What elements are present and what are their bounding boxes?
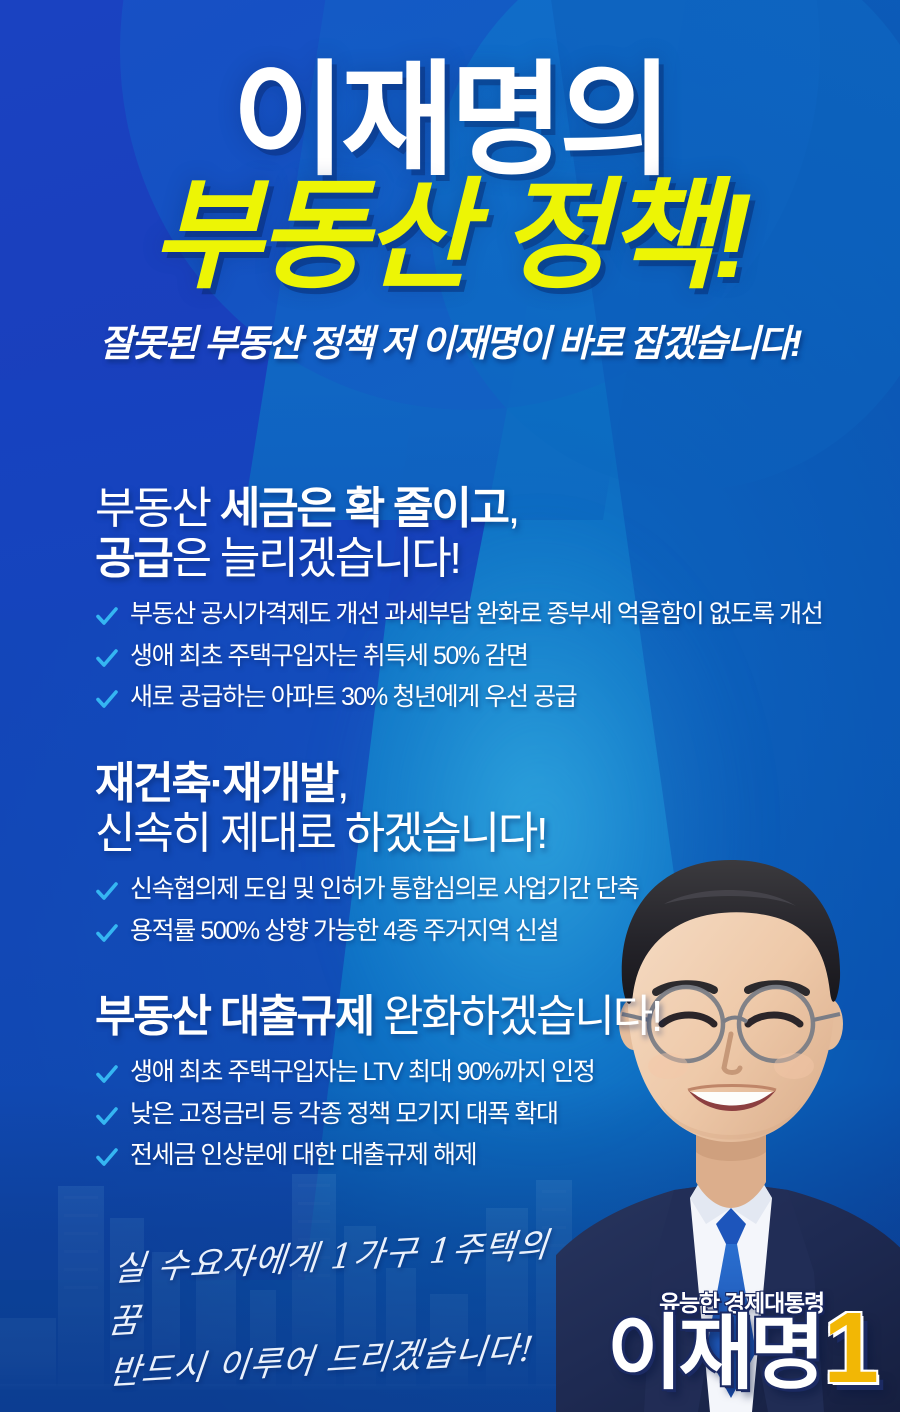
policy-sections: 부동산 세금은 확 줄이고, 공급은 늘리겠습니다! 부동산 공시가격제도 개선…	[95, 484, 835, 1205]
check-icon	[95, 921, 119, 945]
bullet-text: 생애 최초 주택구입자는 취득세 50% 감면	[130, 641, 528, 672]
heading-tail-1: 완화하겠습니다!	[373, 992, 661, 1041]
policy-section-tax-supply: 부동산 세금은 확 줄이고, 공급은 늘리겠습니다! 부동산 공시가격제도 개선…	[95, 484, 835, 713]
candidate-signature-block: 유능한 경제대통령 이재명 1	[607, 1284, 876, 1394]
check-icon	[95, 1145, 119, 1169]
section-heading: 부동산 세금은 확 줄이고, 공급은 늘리겠습니다!	[95, 484, 835, 584]
title-main: 이재명의	[0, 62, 900, 181]
handwritten-slogan: 실 수요자에게 1가구 1주택의 꿈 반드시 이루어 드리겠습니다!	[100, 1218, 585, 1400]
section-heading: 재건축·재개발, 신속히 제대로 하겠습니다!	[95, 759, 835, 859]
list-item: 새로 공급하는 아파트 30% 청년에게 우선 공급	[95, 682, 835, 713]
policy-section-redevelopment: 재건축·재개발, 신속히 제대로 하겠습니다! 신속협의제 도입 및 인허가 통…	[95, 759, 835, 946]
list-item: 생애 최초 주택구입자는 취득세 50% 감면	[95, 641, 835, 672]
bullet-list: 생애 최초 주택구입자는 LTV 최대 90%까지 인정 낮은 고정금리 등 각…	[95, 1057, 835, 1171]
list-item: 용적률 500% 상향 가능한 4종 주거지역 신설	[95, 916, 835, 947]
bullet-text: 새로 공급하는 아파트 30% 청년에게 우선 공급	[130, 682, 576, 713]
policy-section-loan-regulation: 부동산 대출규제 완화하겠습니다! 생애 최초 주택구입자는 LTV 최대 90…	[95, 992, 835, 1171]
bullet-text: 생애 최초 주택구입자는 LTV 최대 90%까지 인정	[130, 1057, 595, 1088]
heading-bold-1: 재건축·재개발	[95, 759, 337, 808]
heading-tail-1: ,	[337, 759, 347, 808]
list-item: 전세금 인상분에 대한 대출규제 해제	[95, 1140, 835, 1171]
bullet-text: 신속협의제 도입 및 인허가 통합심의로 사업기간 단축	[130, 874, 638, 905]
headline-tagline: 잘못된 부동산 정책 저 이재명이 바로 잡겠습니다!	[0, 313, 900, 367]
candidate-name: 이재명	[607, 1316, 821, 1391]
check-icon	[95, 879, 119, 903]
heading-tail-1: ,	[508, 484, 518, 533]
heading-bold-2: 공급	[95, 534, 172, 583]
check-icon	[95, 687, 119, 711]
heading-light-1: 부동산	[95, 484, 220, 533]
list-item: 낮은 고정금리 등 각종 정책 모기지 대폭 확대	[95, 1099, 835, 1130]
bullet-text: 낮은 고정금리 등 각종 정책 모기지 대폭 확대	[130, 1099, 558, 1130]
bullet-list: 부동산 공시가격제도 개선 과세부담 완화로 종부세 억울함이 없도록 개선 생…	[95, 599, 835, 713]
check-icon	[95, 646, 119, 670]
check-icon	[95, 604, 119, 628]
bullet-text: 전세금 인상분에 대한 대출규제 해제	[130, 1140, 476, 1171]
heading-light-2: 은 늘리겠습니다!	[172, 534, 460, 583]
campaign-poster: 이재명의 부동산 정책! 잘못된 부동산 정책 저 이재명이 바로 잡겠습니다!…	[0, 0, 900, 1412]
heading-bold-1: 세금은 확 줄이고	[220, 484, 508, 533]
bullet-text: 부동산 공시가격제도 개선 과세부담 완화로 종부세 억울함이 없도록 개선	[130, 599, 822, 630]
check-icon	[95, 1104, 119, 1128]
section-heading: 부동산 대출규제 완화하겠습니다!	[95, 992, 835, 1042]
check-icon	[95, 1062, 119, 1086]
bullet-text: 용적률 500% 상향 가능한 4종 주거지역 신설	[130, 916, 558, 947]
list-item: 부동산 공시가격제도 개선 과세부담 완화로 종부세 억울함이 없도록 개선	[95, 599, 835, 630]
poster-headline: 이재명의 부동산 정책! 잘못된 부동산 정책 저 이재명이 바로 잡겠습니다!	[0, 62, 900, 367]
bullet-list: 신속협의제 도입 및 인허가 통합심의로 사업기간 단축 용적률 500% 상향…	[95, 874, 835, 946]
list-item: 생애 최초 주택구입자는 LTV 최대 90%까지 인정	[95, 1057, 835, 1088]
heading-light-2: 신속히 제대로 하겠습니다!	[95, 809, 546, 858]
list-item: 신속협의제 도입 및 인허가 통합심의로 사업기간 단축	[95, 874, 835, 905]
signature-name-row: 이재명 1	[607, 1316, 876, 1394]
title-sub: 부동산 정책!	[0, 175, 900, 297]
ballot-number: 1	[823, 1302, 876, 1394]
heading-bold-1: 부동산 대출규제	[95, 992, 373, 1041]
